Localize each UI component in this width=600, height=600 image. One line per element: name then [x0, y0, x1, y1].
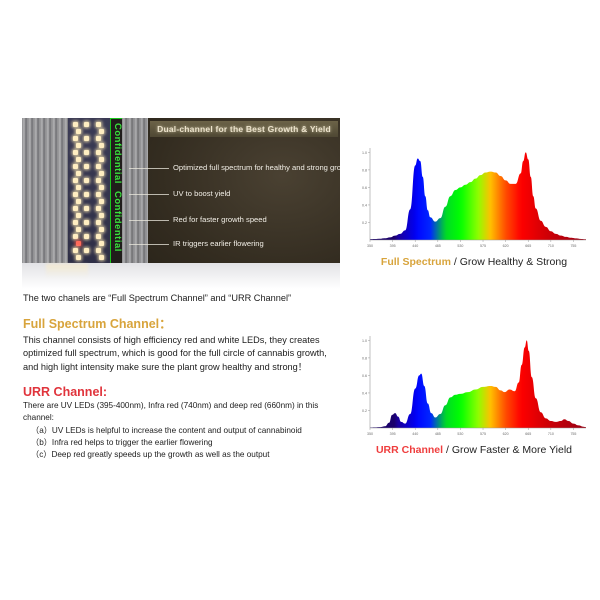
photo-reflection-glow [46, 264, 88, 278]
led-dot [76, 171, 81, 176]
spectrum-area [370, 340, 586, 428]
led-dot [96, 164, 101, 169]
x-tick-label: 755 [570, 432, 576, 436]
x-tick-label: 440 [412, 244, 418, 248]
led-dot [73, 220, 78, 225]
x-tick-label: 710 [548, 244, 554, 248]
led-dot [73, 136, 78, 141]
x-tick-label: 350 [367, 432, 373, 436]
y-tick-label: 0.2 [362, 409, 367, 413]
callout-label-1: Optimized full spectrum for healthy and … [173, 163, 340, 172]
led-dot [73, 248, 78, 253]
spectrum-area [370, 152, 586, 240]
led-dot [99, 199, 104, 204]
x-tick-label: 620 [503, 432, 509, 436]
led-dot [84, 164, 89, 169]
description-column: The two chanels are “Full Spectrum Chann… [23, 292, 343, 462]
led-dot [84, 206, 89, 211]
led-dot [96, 206, 101, 211]
led-dot [76, 129, 81, 134]
x-tick-label: 665 [525, 432, 531, 436]
led-dot [76, 199, 81, 204]
callout-line-1 [129, 168, 169, 169]
callout-line-2 [129, 194, 169, 195]
full-spectrum-caption-title: Full Spectrum [381, 256, 451, 268]
urr-caption-title: URR Channel [376, 444, 443, 456]
list-item: （c）Deep red greatly speeds up the growth… [23, 449, 343, 461]
callout-label-2: UV to boost yield [173, 189, 230, 198]
y-tick-label: 0.6 [362, 186, 367, 190]
led-dot [84, 192, 89, 197]
photo-banner-title: Dual-channel for the Best Growth & Yield [157, 124, 331, 134]
led-dot [96, 136, 101, 141]
led-dot [73, 234, 78, 239]
urr-item-list: （a）UV LEDs is helpful to increase the co… [23, 425, 343, 462]
led-dot [73, 192, 78, 197]
led-dot [84, 150, 89, 155]
led-dot [84, 122, 89, 127]
led-dot [99, 143, 104, 148]
y-tick-label: 0.8 [362, 168, 367, 172]
led-dot [76, 185, 81, 190]
photo-banner: Dual-channel for the Best Growth & Yield [150, 121, 338, 137]
list-item: （b）Infra red helps to trigger the earlie… [23, 437, 343, 449]
led-dot [96, 234, 101, 239]
x-tick-label: 755 [570, 244, 576, 248]
full-spectrum-heading: Full Spectrum Channel： [23, 313, 343, 332]
led-dot [99, 185, 104, 190]
x-tick-label: 485 [435, 244, 441, 248]
led-dot [99, 241, 104, 246]
heatsink-right [122, 118, 148, 263]
product-photo: Confidential Confidential Dual-channel f… [22, 118, 340, 263]
led-dot [84, 178, 89, 183]
chart-urr-channel: 0.20.40.60.81.03503954404855305756206657… [352, 330, 596, 456]
x-tick-label: 395 [390, 244, 396, 248]
led-dot [96, 122, 101, 127]
led-dot [76, 157, 81, 162]
led-dot [84, 220, 89, 225]
heatsink-left [22, 118, 70, 263]
intro-paragraph: The two chanels are “Full Spectrum Chann… [23, 292, 343, 304]
led-dot [73, 122, 78, 127]
y-tick-label: 0.2 [362, 221, 367, 225]
urr-channel-plot: 0.20.40.60.81.03503954404855305756206657… [352, 330, 592, 442]
callout-line-3 [129, 220, 169, 221]
x-tick-label: 440 [412, 432, 418, 436]
x-tick-label: 665 [525, 244, 531, 248]
x-tick-label: 575 [480, 432, 486, 436]
x-tick-label: 530 [457, 244, 463, 248]
led-dot [73, 206, 78, 211]
full-spectrum-caption: Full Spectrum / Grow Healthy & Strong [352, 256, 596, 268]
led-dot [84, 234, 89, 239]
led-dot [73, 178, 78, 183]
led-dot [84, 248, 89, 253]
led-dot [73, 164, 78, 169]
urr-caption: URR Channel / Grow Faster & More Yield [352, 444, 596, 456]
led-dot [99, 255, 104, 260]
full-spectrum-body: This channel consists of high efficiency… [23, 334, 343, 373]
led-dot [99, 171, 104, 176]
led-dot [99, 227, 104, 232]
x-tick-label: 530 [457, 432, 463, 436]
led-dot [99, 157, 104, 162]
led-dot [96, 192, 101, 197]
led-pcb-strip [68, 118, 110, 263]
led-dot [76, 213, 81, 218]
callout-label-4: IR triggers earlier flowering [173, 239, 264, 248]
urr-heading: URR Channel: [23, 385, 343, 399]
y-tick-label: 0.4 [362, 391, 367, 395]
led-dot [73, 150, 78, 155]
led-dot [76, 143, 81, 148]
led-dot [96, 150, 101, 155]
y-tick-label: 0.8 [362, 356, 367, 360]
x-tick-label: 620 [503, 244, 509, 248]
led-dot [84, 136, 89, 141]
led-dot [96, 220, 101, 225]
led-dot [96, 178, 101, 183]
callout-line-4 [129, 244, 169, 245]
slide-page: Confidential Confidential Dual-channel f… [0, 0, 600, 600]
led-dot [99, 213, 104, 218]
x-tick-label: 710 [548, 432, 554, 436]
chart-full-spectrum: 0.20.40.60.81.03503954404855305756206657… [352, 142, 596, 268]
y-tick-label: 1.0 [362, 151, 367, 155]
y-tick-label: 0.4 [362, 203, 367, 207]
urr-caption-suffix: / Grow Faster & More Yield [446, 444, 572, 456]
urr-intro: There are UV LEDs (395-400nm), Infra red… [23, 400, 343, 424]
x-tick-label: 395 [390, 432, 396, 436]
led-dot [76, 255, 81, 260]
list-item: （a）UV LEDs is helpful to increase the co… [23, 425, 343, 437]
section-gap [23, 374, 343, 385]
led-dot [76, 227, 81, 232]
x-tick-label: 575 [480, 244, 486, 248]
led-dot [96, 248, 101, 253]
y-tick-label: 1.0 [362, 339, 367, 343]
y-tick-label: 0.6 [362, 374, 367, 378]
full-spectrum-plot: 0.20.40.60.81.03503954404855305756206657… [352, 142, 592, 254]
led-dot [76, 241, 81, 246]
x-tick-label: 485 [435, 432, 441, 436]
callout-label-3: Red for faster growth speed [173, 215, 267, 224]
full-spectrum-caption-suffix: / Grow Healthy & Strong [454, 256, 567, 268]
led-dot [99, 129, 104, 134]
x-tick-label: 350 [367, 244, 373, 248]
